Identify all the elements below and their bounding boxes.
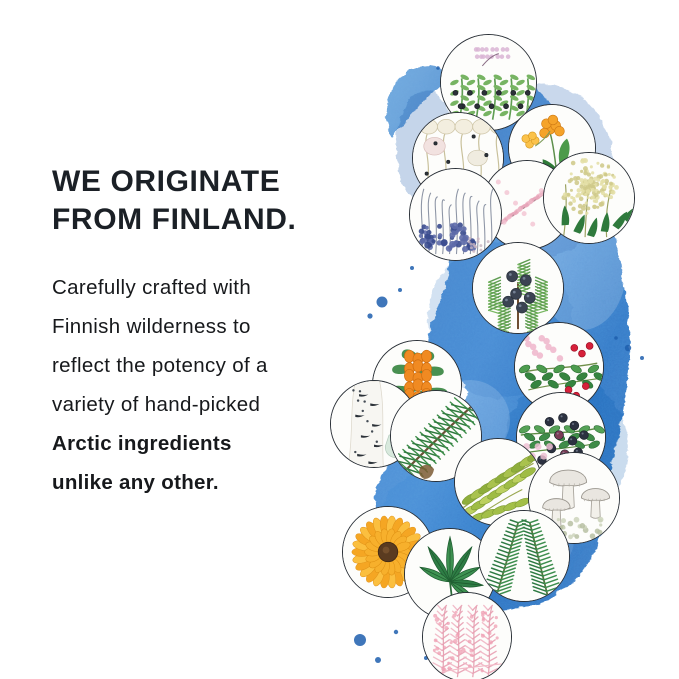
page-title: WE ORIGINATE FROM FINLAND. bbox=[52, 163, 362, 240]
text-block: WE ORIGINATE FROM FINLAND. Carefully cra… bbox=[52, 163, 362, 502]
body-line-3: reflect the potency of a bbox=[52, 346, 362, 385]
circle-pink-blossom[interactable] bbox=[422, 592, 512, 679]
body-copy: Carefully crafted with Finnish wildernes… bbox=[52, 268, 362, 502]
circle-meadowsweet[interactable] bbox=[543, 152, 635, 244]
body-line-5: Arctic ingredients bbox=[52, 424, 362, 463]
body-line-6: unlike any other. bbox=[52, 463, 362, 502]
body-line-1: Carefully crafted with bbox=[52, 268, 362, 307]
circle-juniper[interactable] bbox=[472, 242, 564, 334]
circle-blueberry-grass[interactable] bbox=[409, 168, 502, 261]
promo-banner: WE ORIGINATE FROM FINLAND. Carefully cra… bbox=[0, 0, 679, 679]
body-line-4: variety of hand-picked bbox=[52, 385, 362, 424]
circle-spruce[interactable] bbox=[478, 510, 570, 602]
body-line-2: Finnish wilderness to bbox=[52, 307, 362, 346]
finland-map-illustration bbox=[330, 20, 679, 670]
